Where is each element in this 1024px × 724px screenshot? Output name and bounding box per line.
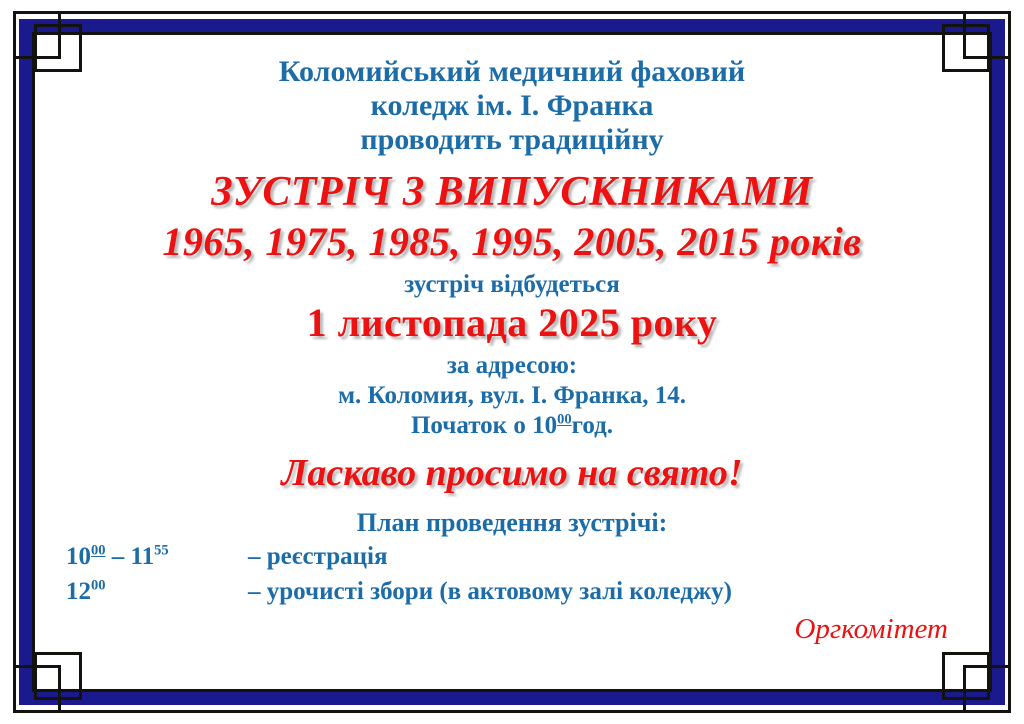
start-time-superscript: 00 <box>557 412 572 428</box>
plan-row: 1200 – урочисті збори (в актовому залі к… <box>66 578 982 606</box>
plan-time-superscript-2: 55 <box>154 543 169 559</box>
border-outer-rule-right <box>1008 11 1011 713</box>
plan-time-dash: – 11 <box>106 543 155 570</box>
border-inner-rule-left <box>32 32 35 692</box>
plan-row-description: – урочисті збори (в актовому залі коледж… <box>248 578 732 606</box>
address-block: за адресою: м. Коломия, вул. І. Франка, … <box>42 353 982 438</box>
organization-line-2: коледж ім. І. Франка <box>42 91 982 121</box>
address-label: за адресою: <box>42 353 982 378</box>
border-outer-rule-left <box>13 11 16 713</box>
plan-time-superscript: 00 <box>91 543 106 559</box>
poster-announcement: Коломийський медичний фаховий коледж ім.… <box>0 0 1024 724</box>
border-inner-rule-top <box>32 32 992 35</box>
organization-line-3: проводить традиційну <box>42 125 982 155</box>
border-navy-band-right <box>992 19 1005 705</box>
event-years: 1965, 1975, 1985, 1995, 2005, 2015 років <box>42 222 982 262</box>
plan-row-time: 1000 – 1155 <box>66 543 248 571</box>
border-outer-rule-bottom <box>13 710 1011 713</box>
border-inner-rule-right <box>989 32 992 692</box>
start-time-line: Початок о 1000год. <box>42 413 982 438</box>
border-navy-band-left <box>19 19 32 705</box>
poster-content: Коломийський медичний фаховий коледж ім.… <box>42 42 982 682</box>
plan-list: 1000 – 1155 – реєстрація 1200 – урочисті… <box>42 543 982 606</box>
welcome-message: Ласкаво просимо на свято! <box>42 454 982 492</box>
plan-time-superscript: 00 <box>91 578 106 594</box>
plan-row: 1000 – 1155 – реєстрація <box>66 543 982 571</box>
organization-line-1: Коломийський медичний фаховий <box>42 57 982 87</box>
start-time-suffix: год. <box>572 412 613 439</box>
border-inner-rule-bottom <box>32 689 992 692</box>
signature: Оргкомітет <box>42 613 982 646</box>
event-date: 1 листопада 2025 року <box>42 303 982 343</box>
plan-row-description: – реєстрація <box>248 543 388 571</box>
border-navy-band-top <box>19 19 1005 32</box>
organization-block: Коломийський медичний фаховий коледж ім.… <box>42 57 982 155</box>
meeting-intro: зустріч відбудеться <box>42 272 982 297</box>
address-line: м. Коломия, вул. І. Франка, 14. <box>42 383 982 408</box>
border-outer-rule-top <box>13 11 1011 14</box>
plan-title: План проведення зустрічі: <box>42 510 982 536</box>
event-title: ЗУСТРІЧ З ВИПУСКНИКАМИ <box>42 171 982 213</box>
start-time-prefix: Початок о 10 <box>411 412 557 439</box>
plan-row-time: 1200 <box>66 578 248 606</box>
plan-time-main: 10 <box>66 543 91 570</box>
border-navy-band-bottom <box>19 692 1005 705</box>
plan-time-main: 12 <box>66 578 91 605</box>
